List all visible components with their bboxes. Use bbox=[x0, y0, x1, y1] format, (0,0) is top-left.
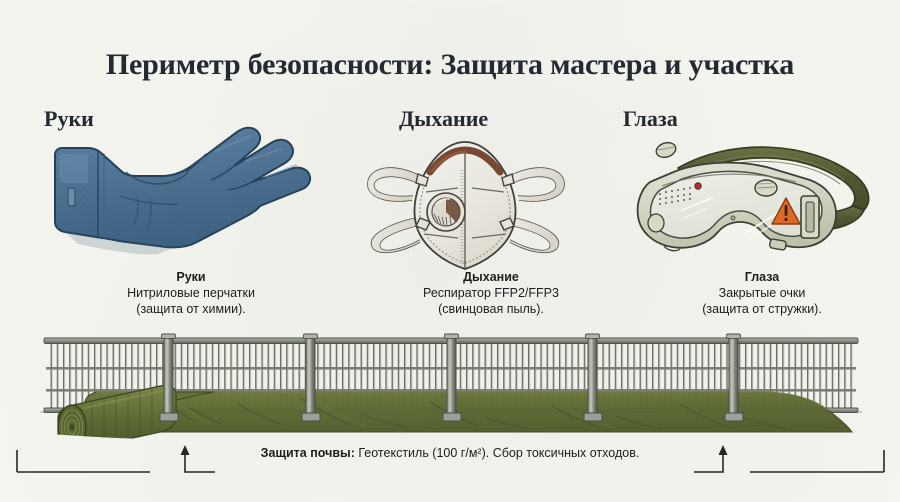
arrow-up-icon-left bbox=[181, 445, 190, 455]
caption-breath-title: Дыхание bbox=[348, 269, 634, 285]
page-title: Периметр безопасности: Защита мастера и … bbox=[0, 48, 900, 82]
caption-hands: Руки Нитриловые перчатки (защита от хими… bbox=[60, 269, 322, 317]
caption-hands-line2: (защита от химии). bbox=[136, 302, 245, 316]
soil-protection-label: Защита почвы: bbox=[261, 446, 355, 460]
safety-goggles-icon bbox=[620, 128, 882, 270]
caption-hands-line1: Нитриловые перчатки bbox=[127, 286, 255, 300]
perimeter-fence-scene bbox=[0, 326, 900, 446]
caption-eyes-title: Глаза bbox=[640, 269, 884, 285]
caption-breath-line2: (свинцовая пыль). bbox=[438, 302, 544, 316]
infographic-page: Периметр безопасности: Защита мастера и … bbox=[0, 0, 900, 502]
caption-eyes-line1: Закрытые очки bbox=[719, 286, 806, 300]
caption-hands-title: Руки bbox=[60, 269, 322, 285]
caption-eyes: Глаза Закрытые очки (защита от стружки). bbox=[640, 269, 884, 317]
arrow-up-icon-right bbox=[719, 445, 728, 455]
soil-protection-text: Защита почвы: Геотекстиль (100 г/м²). Сб… bbox=[216, 446, 684, 460]
soil-protection-detail: Геотекстиль (100 г/м²). Сбор токсичных о… bbox=[355, 446, 639, 460]
nitrile-glove-icon bbox=[38, 126, 328, 274]
respirator-mask-icon bbox=[358, 126, 586, 274]
caption-eyes-line2: (защита от стружки). bbox=[702, 302, 822, 316]
caption-breath-line1: Респиратор FFP2/FFP3 bbox=[423, 286, 559, 300]
caption-breath: Дыхание Респиратор FFP2/FFP3 (свинцовая … bbox=[348, 269, 634, 317]
